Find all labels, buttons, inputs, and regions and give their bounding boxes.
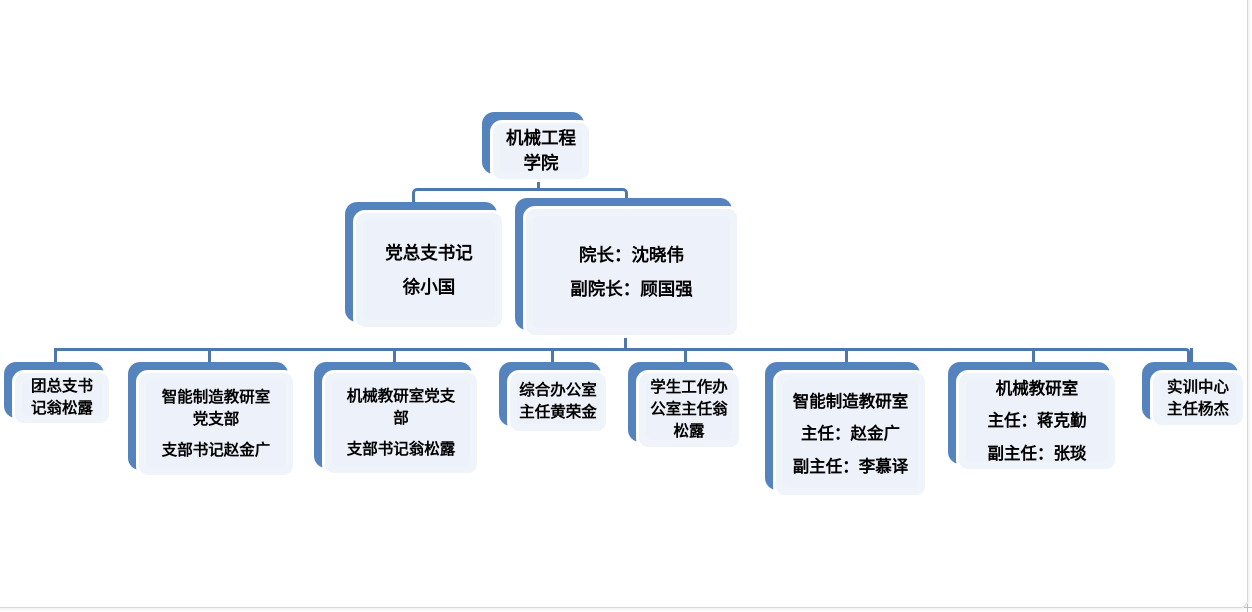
node-mechanical-party-branch[interactable]: 机械教研室党支 部 支部书记翁松露 xyxy=(314,362,480,476)
node-line: 副主任：李慕译 xyxy=(793,455,909,478)
node-line: 综合办公室 xyxy=(519,380,597,402)
node-card: 党总支书记 徐小国 xyxy=(353,210,505,330)
node-line: 部 xyxy=(393,408,409,430)
node-line: 实训中心 xyxy=(1167,377,1229,399)
node-card: 团总支书 记翁松露 xyxy=(12,370,112,426)
node-card: 机械教研室党支 部 支部书记翁松露 xyxy=(322,370,480,476)
node-smart-manufacturing-dept[interactable]: 智能制造教研室 主任：赵金广 副主任：李慕译 xyxy=(765,362,928,498)
node-card: 实训中心 主任杨杰 xyxy=(1150,370,1246,428)
node-youth-league[interactable]: 团总支书 记翁松露 xyxy=(4,362,112,426)
node-line: 机械教研室 xyxy=(996,377,1079,400)
node-card: 智能制造教研室 主任：赵金广 副主任：李慕译 xyxy=(773,370,928,498)
node-line: 机械工程学院 xyxy=(504,126,578,176)
node-text: 团总支书 记翁松露 xyxy=(22,380,102,416)
node-line: 松露 xyxy=(673,421,704,443)
node-card: 院长：沈晓伟 副院长：顾国强 xyxy=(523,206,740,338)
node-line: 机械教研室党支 xyxy=(347,386,456,408)
node-line: 主任杨杰 xyxy=(1167,399,1229,421)
node-card: 综合办公室 主任黄荣金 xyxy=(507,370,609,434)
node-card: 机械工程学院 xyxy=(490,120,592,182)
node-text: 实训中心 主任杨杰 xyxy=(1160,380,1236,418)
node-line: 徐小国 xyxy=(403,275,456,300)
node-text: 机械教研室党支 部 支部书记翁松露 xyxy=(332,380,470,466)
node-line: 党总支书记 xyxy=(385,241,473,266)
node-smart-manufacturing-party-branch[interactable]: 智能制造教研室 党支部 支部书记赵金广 xyxy=(128,362,296,478)
node-text: 智能制造教研室 主任：赵金广 副主任：李慕译 xyxy=(783,380,918,488)
node-card: 机械教研室 主任：蒋克勤 副主任：张琰 xyxy=(956,370,1118,472)
node-line: 支部书记翁松露 xyxy=(347,439,456,461)
node-line: 主任黄荣金 xyxy=(519,402,597,424)
node-line: 副院长：顾国强 xyxy=(570,277,693,302)
node-line: 智能制造教研室 xyxy=(793,390,909,413)
node-party-secretary[interactable]: 党总支书记 徐小国 xyxy=(345,202,505,330)
node-text: 党总支书记 徐小国 xyxy=(363,220,495,320)
node-line: 公室主任翁 xyxy=(650,399,728,421)
node-line: 学生工作办 xyxy=(650,377,728,399)
node-root[interactable]: 机械工程学院 xyxy=(482,112,592,182)
node-text: 机械教研室 主任：蒋克勤 副主任：张琰 xyxy=(966,380,1108,462)
node-training-center[interactable]: 实训中心 主任杨杰 xyxy=(1142,362,1246,428)
node-dean-office[interactable]: 院长：沈晓伟 副院长：顾国强 xyxy=(515,198,740,338)
node-general-office[interactable]: 综合办公室 主任黄荣金 xyxy=(499,362,609,434)
node-text: 综合办公室 主任黄荣金 xyxy=(517,380,599,424)
node-line: 主任：蒋克勤 xyxy=(988,409,1087,432)
node-mechanical-dept[interactable]: 机械教研室 主任：蒋克勤 副主任：张琰 xyxy=(948,362,1118,472)
node-text: 学生工作办 公室主任翁 松露 xyxy=(646,380,732,440)
node-line: 副主任：张琰 xyxy=(988,442,1087,465)
node-card: 智能制造教研室 党支部 支部书记赵金广 xyxy=(136,370,296,478)
node-text: 机械工程学院 xyxy=(500,130,582,172)
node-line: 院长：沈晓伟 xyxy=(579,243,684,268)
node-student-affairs-office[interactable]: 学生工作办 公室主任翁 松露 xyxy=(628,362,742,450)
node-line: 智能制造教研室 xyxy=(162,387,271,409)
node-line: 主任：赵金广 xyxy=(801,422,900,445)
node-line: 团总支书 xyxy=(31,376,93,398)
node-line: 党支部 xyxy=(193,409,240,431)
node-line: 支部书记赵金广 xyxy=(162,440,271,462)
org-chart-canvas: 机械工程学院 党总支书记 徐小国 院长：沈晓伟 副院长：顾国强 团总支书 记 xyxy=(0,0,1252,612)
node-text: 智能制造教研室 党支部 支部书记赵金广 xyxy=(146,380,286,468)
node-line: 记翁松露 xyxy=(31,398,93,420)
node-card: 学生工作办 公室主任翁 松露 xyxy=(636,370,742,450)
node-text: 院长：沈晓伟 副院长：顾国强 xyxy=(533,216,730,328)
